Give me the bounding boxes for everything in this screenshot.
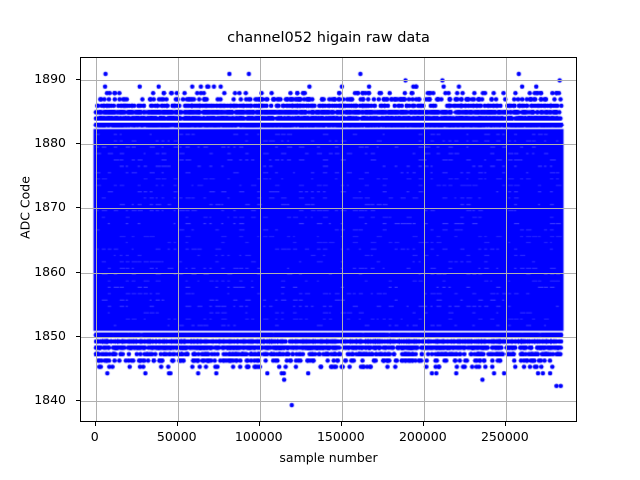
y-axis-tick-label: 1860 [6,264,66,279]
gridline-horizontal [81,337,576,338]
page-title: channel052 higain raw data [80,30,577,46]
y-axis-tick-label: 1890 [6,71,66,86]
gridline-vertical [506,58,507,421]
gridline-horizontal [81,80,576,81]
gridline-vertical [260,58,261,421]
figure-canvas: channel052 higain raw data sample number… [0,0,640,480]
gridline-horizontal [81,208,576,209]
gridline-vertical [96,58,97,421]
x-axis-tick [423,422,424,426]
y-axis-tick-label: 1870 [6,199,66,214]
gridline-vertical [178,58,179,421]
x-axis-tick [341,422,342,426]
y-axis-tick [76,400,80,401]
y-axis-tick-label: 1880 [6,135,66,150]
x-axis-tick [177,422,178,426]
scatter-plot-canvas [81,58,576,421]
gridline-horizontal [81,401,576,402]
y-axis-tick-label: 1850 [6,328,66,343]
y-axis-tick [76,143,80,144]
x-axis-tick [95,422,96,426]
y-axis-tick-label: 1840 [6,392,66,407]
gridline-horizontal [81,273,576,274]
x-axis-tick [259,422,260,426]
gridline-horizontal [81,144,576,145]
x-axis-label: sample number [80,450,577,465]
x-axis-tick [505,422,506,426]
plot-area [80,57,577,422]
x-axis-tick-label: 250000 [445,429,565,444]
gridline-vertical [342,58,343,421]
y-axis-tick [76,79,80,80]
y-axis-tick [76,336,80,337]
gridline-vertical [424,58,425,421]
y-axis-tick [76,207,80,208]
y-axis-tick [76,272,80,273]
